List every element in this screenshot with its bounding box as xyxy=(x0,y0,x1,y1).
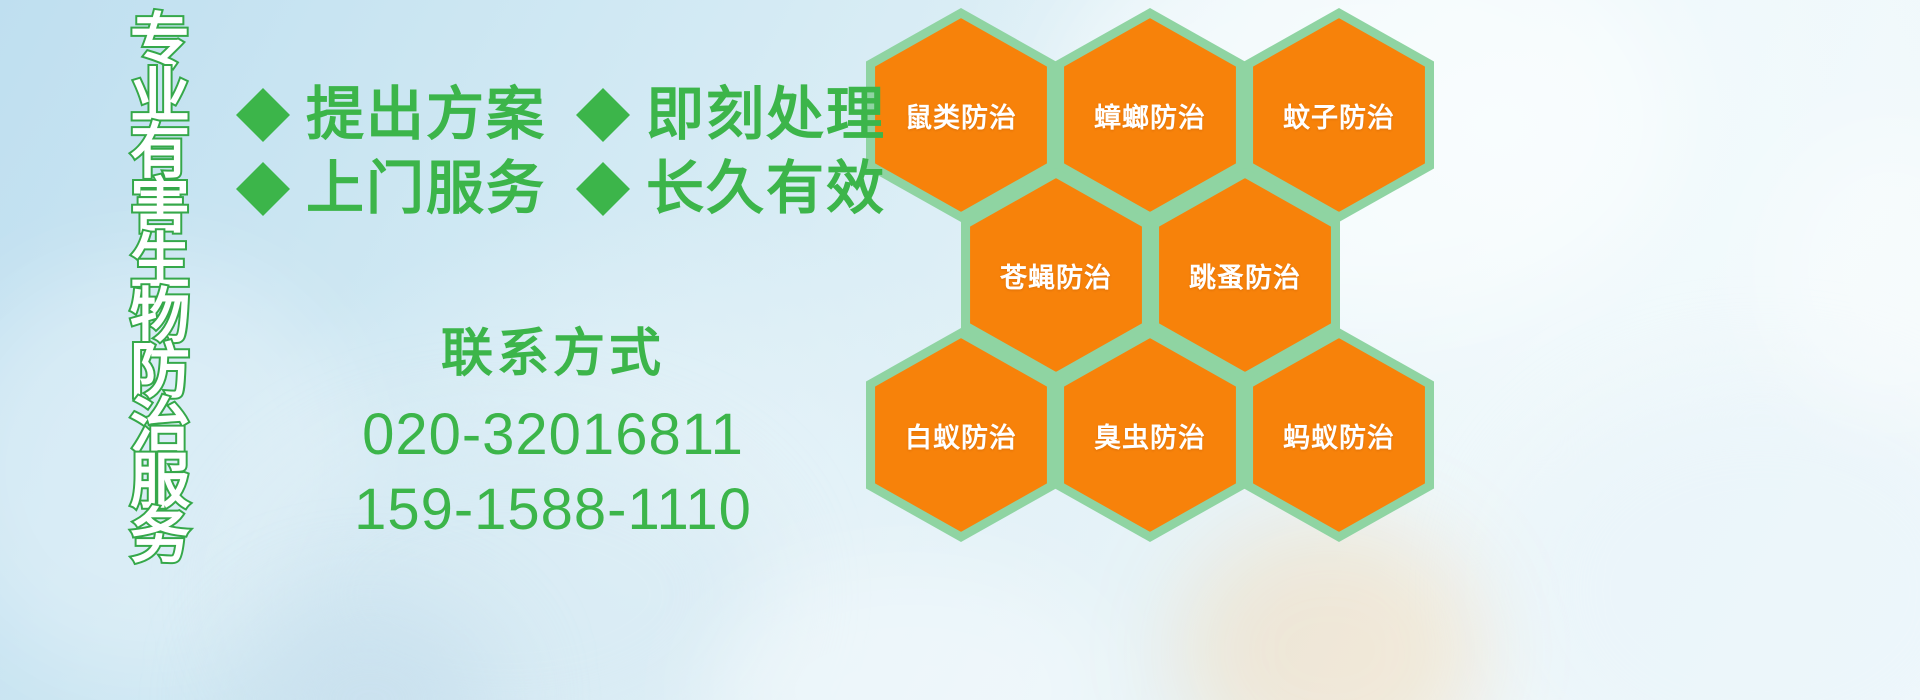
diamond-bullet-icon xyxy=(576,61,630,115)
service-label: 苍蝇防治 xyxy=(1000,256,1112,295)
pest-control-banner: 专 业 有 害 生 物 防 治 服 务 提出方案 即刻处理 上门服务 xyxy=(0,0,1920,700)
service-label: 鼠类防治 xyxy=(905,96,1017,135)
vertical-headline-char: 生 xyxy=(130,234,190,289)
diamond-bullet-icon xyxy=(236,61,290,115)
vertical-headline-char: 防 xyxy=(130,344,190,399)
background-blob xyxy=(1500,380,1920,700)
vertical-headline-char: 害 xyxy=(130,179,190,234)
contact-phone-landline[interactable]: 020-32016811 xyxy=(318,397,788,472)
vertical-headline-char: 有 xyxy=(130,124,190,179)
contact-block: 联系方式 020-32016811 159-1588-1110 xyxy=(318,322,788,548)
contact-title: 联系方式 xyxy=(318,322,788,387)
vertical-headline-char: 服 xyxy=(130,454,190,509)
vertical-headline-char: 物 xyxy=(130,289,190,344)
feature-label: 提出方案 xyxy=(306,86,546,144)
service-hex-bedbug[interactable]: 臭虫防治 xyxy=(1055,328,1245,542)
background-blob xyxy=(1760,120,1920,420)
vertical-headline-char: 务 xyxy=(130,509,190,564)
feature-label: 上门服务 xyxy=(306,160,546,218)
vertical-headline-char: 治 xyxy=(130,399,190,454)
service-hex-termite[interactable]: 白蚁防治 xyxy=(866,328,1056,542)
feature-row: 提出方案 即刻处理 xyxy=(236,86,886,144)
feature-row: 上门服务 长久有效 xyxy=(236,160,886,218)
background-blob xyxy=(240,600,500,700)
feature-label: 即刻处理 xyxy=(646,86,886,144)
service-hex-ant[interactable]: 蚂蚁防治 xyxy=(1244,328,1434,542)
diamond-bullet-icon xyxy=(236,135,290,189)
service-label: 臭虫防治 xyxy=(1094,416,1206,455)
feature-label: 长久有效 xyxy=(646,160,886,218)
service-label: 跳蚤防治 xyxy=(1189,256,1301,295)
feature-list: 提出方案 即刻处理 上门服务 长久有效 xyxy=(236,86,886,234)
vertical-headline-char: 业 xyxy=(130,69,190,124)
vertical-headline-char: 专 xyxy=(130,14,190,69)
service-honeycomb: 鼠类防治 蟑螂防治 蚊子防治 苍蝇防治 跳蚤防治 白蚁防治 xyxy=(858,0,1478,700)
feature-item-door-to-door-service: 上门服务 xyxy=(236,160,546,218)
service-label: 蚊子防治 xyxy=(1283,96,1395,135)
contact-phone-mobile[interactable]: 159-1588-1110 xyxy=(318,472,788,547)
service-label: 蚂蚁防治 xyxy=(1283,416,1395,455)
service-label: 白蚁防治 xyxy=(905,416,1017,455)
feature-item-long-lasting-effect: 长久有效 xyxy=(576,160,886,218)
vertical-headline: 专 业 有 害 生 物 防 治 服 务 xyxy=(104,14,216,574)
diamond-bullet-icon xyxy=(576,135,630,189)
service-label: 蟑螂防治 xyxy=(1094,96,1206,135)
